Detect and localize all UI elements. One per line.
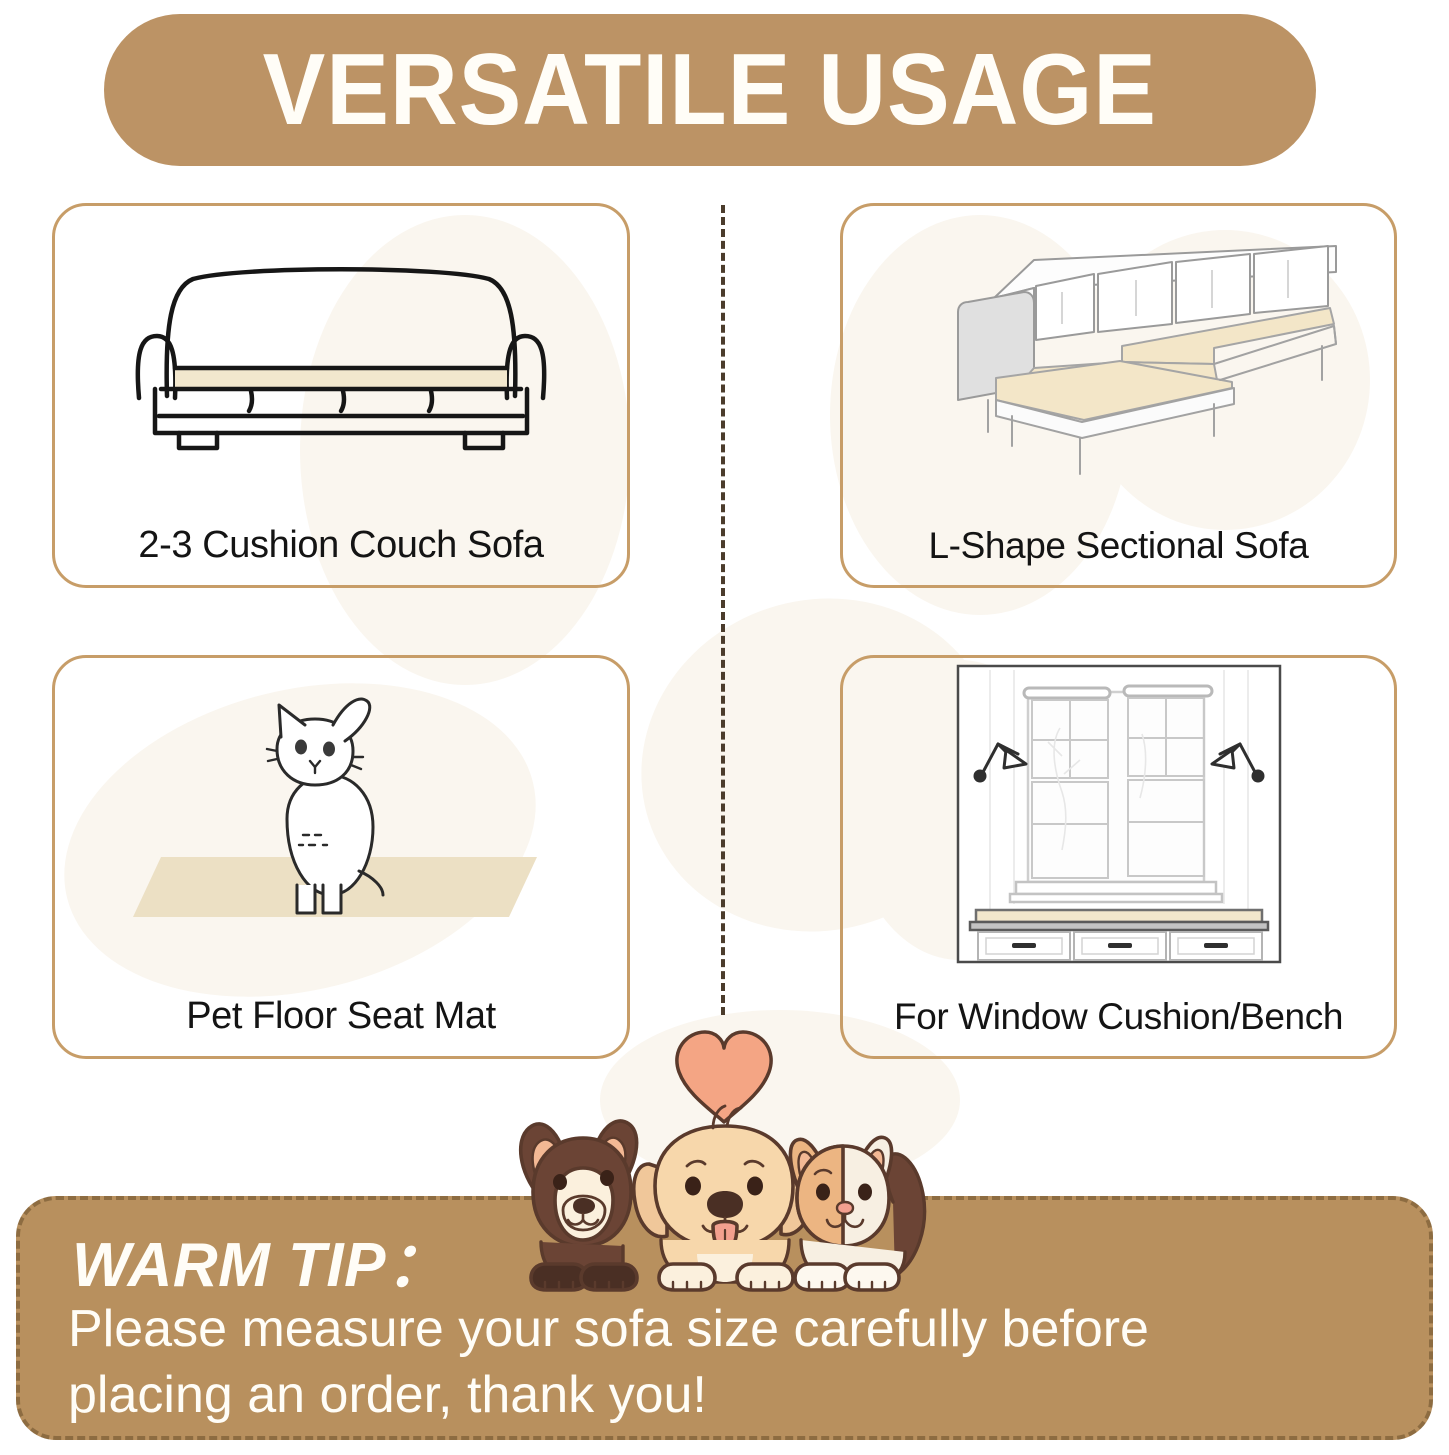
sectional-sofa-illustration bbox=[843, 206, 1394, 499]
usage-card-label: L-Shape Sectional Sofa bbox=[843, 525, 1394, 567]
warm-tip-body: Please measure your sofa size carefully … bbox=[68, 1296, 1398, 1428]
warm-tip-line-1: Please measure your sofa size carefully … bbox=[68, 1296, 1398, 1362]
header-banner: VERSATILE USAGE bbox=[104, 14, 1316, 166]
heart-icon bbox=[677, 1032, 771, 1122]
page-title: VERSATILE USAGE bbox=[263, 40, 1157, 141]
window-bench-illustration bbox=[843, 658, 1394, 970]
usage-card-label: 2-3 Cushion Couch Sofa bbox=[55, 524, 627, 567]
couch-sofa-illustration bbox=[55, 206, 627, 499]
usage-card-cushion-couch-sofa: 2-3 Cushion Couch Sofa bbox=[52, 203, 630, 588]
usage-card-pet-floor-seat-mat: Pet Floor Seat Mat bbox=[52, 655, 630, 1059]
warm-tip-heading: WARM TIP： bbox=[72, 1214, 448, 1304]
column-divider bbox=[721, 205, 725, 1015]
cat-on-mat-illustration bbox=[55, 658, 627, 970]
usage-card-l-shape-sectional-sofa: L-Shape Sectional Sofa bbox=[840, 203, 1397, 588]
warm-tip-line-2: placing an order, thank you! bbox=[68, 1362, 1398, 1428]
usage-card-window-cushion-bench: For Window Cushion/Bench bbox=[840, 655, 1397, 1059]
pets-illustration bbox=[497, 1014, 952, 1304]
versatile-usage-infographic: VERSATILE USAGE bbox=[0, 0, 1449, 1455]
